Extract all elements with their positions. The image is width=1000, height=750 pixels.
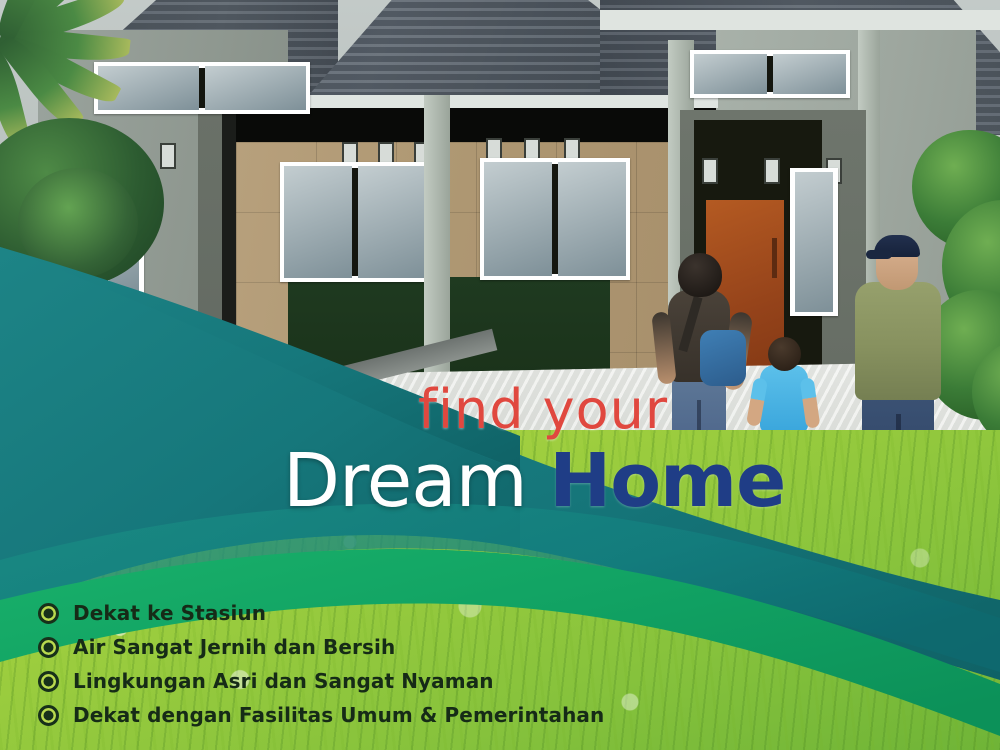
bullet-ring-icon [38, 637, 59, 658]
feature-label: Dekat dengan Fasilitas Umum & Pemerintah… [73, 703, 604, 727]
poster-canvas: find your Dream Home Dekat ke Stasiun Ai… [0, 0, 1000, 750]
feature-label: Dekat ke Stasiun [73, 601, 266, 625]
list-item: Lingkungan Asri dan Sangat Nyaman [38, 664, 678, 698]
list-item: Dekat ke Stasiun [38, 596, 678, 630]
feature-label: Lingkungan Asri dan Sangat Nyaman [73, 669, 494, 693]
feature-list: Dekat ke Stasiun Air Sangat Jernih dan B… [38, 596, 678, 732]
bullet-ring-icon [38, 705, 59, 726]
bullet-ring-icon [38, 603, 59, 624]
list-item: Dekat dengan Fasilitas Umum & Pemerintah… [38, 698, 678, 732]
bullet-ring-icon [38, 671, 59, 692]
list-item: Air Sangat Jernih dan Bersih [38, 630, 678, 664]
feature-label: Air Sangat Jernih dan Bersih [73, 635, 395, 659]
